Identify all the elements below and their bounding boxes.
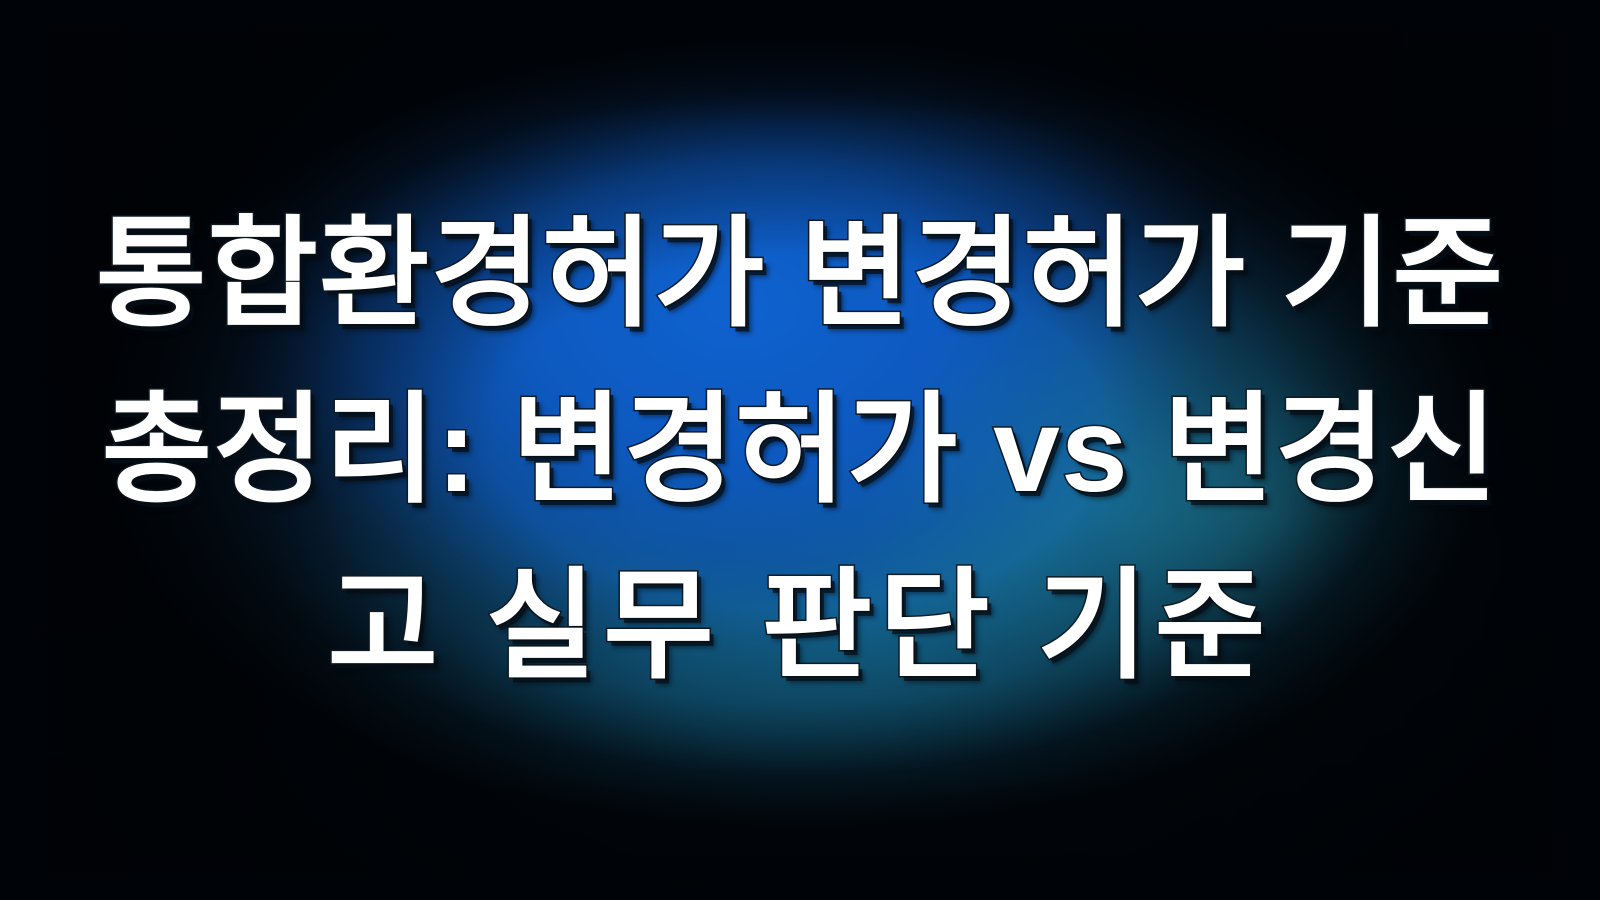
title-line-1: 통합환경허가 변경허가 기준 (96, 186, 1504, 362)
page-title: 통합환경허가 변경허가 기준 총정리: 변경허가 vs 변경신 고 실무 판단 … (0, 0, 1600, 900)
title-line-2: 총정리: 변경허가 vs 변경신 (102, 362, 1499, 538)
title-thumbnail-card: 통합환경허가 변경허가 기준 총정리: 변경허가 vs 변경신 고 실무 판단 … (0, 0, 1600, 900)
title-line-3: 고 실무 판단 기준 (328, 538, 1273, 714)
